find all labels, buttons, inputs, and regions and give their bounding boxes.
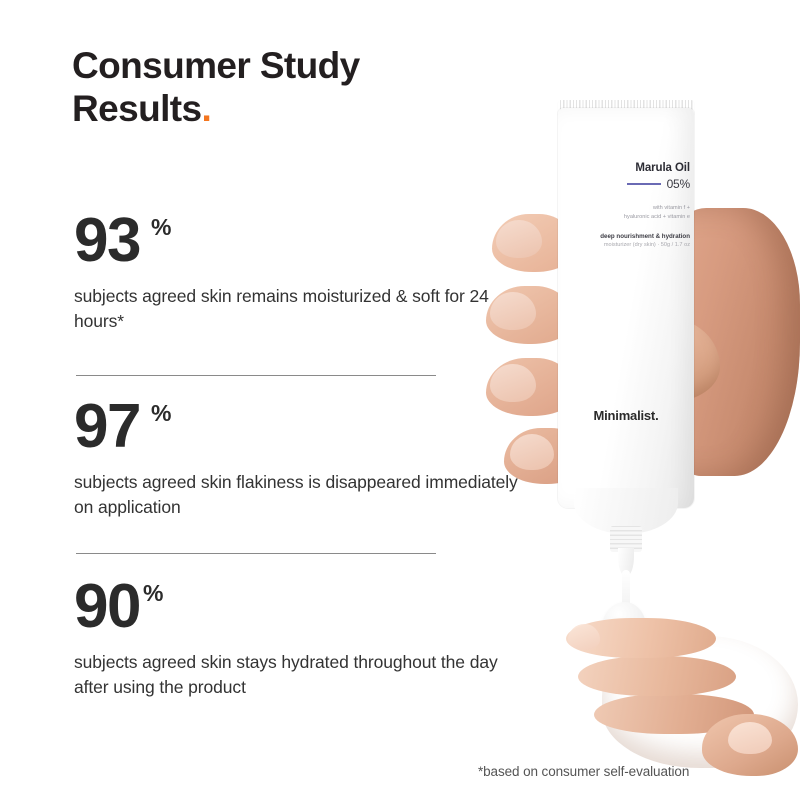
stat-percent-sign: % — [143, 582, 163, 605]
fingernail — [510, 434, 554, 470]
stat-divider — [76, 375, 436, 376]
title-line-2-text: Results — [72, 88, 201, 129]
infographic-canvas: Consumer Study Results. 93 % subjects ag… — [0, 0, 800, 800]
brand-name: Minimalist — [594, 408, 656, 423]
stat-value: 93 — [74, 212, 140, 271]
fingernail — [490, 292, 536, 330]
title-accent-dot: . — [201, 88, 211, 129]
stat-value-row: 97 % — [74, 398, 524, 457]
stat-percent-sign: % — [151, 216, 171, 239]
stat-percent-sign: % — [151, 402, 171, 425]
stat-description: subjects agreed skin stays hydrated thro… — [74, 650, 524, 700]
stat-value: 97 — [74, 398, 140, 457]
hand-receiving-cream — [506, 610, 800, 800]
accent-rule — [627, 183, 661, 185]
fingernail — [490, 364, 536, 402]
fingernail — [496, 220, 542, 258]
stat-value-row: 93 % — [74, 212, 524, 271]
brand-mark: Minimalist. — [562, 408, 690, 423]
product-meta: moisturizer (dry skin) · 50g / 1.7 oz — [562, 242, 690, 248]
product-ingredients: with vitamin f + hyaluronic acid + vitam… — [562, 204, 690, 222]
thumbnail — [728, 722, 772, 754]
finger — [578, 656, 736, 696]
product-photo: Marula Oil 05% with vitamin f + hyaluron… — [470, 90, 800, 770]
stat-description: subjects agreed skin remains moisturized… — [74, 284, 524, 334]
page-title: Consumer Study Results. — [72, 44, 492, 131]
product-label: Marula Oil 05% with vitamin f + hyaluron… — [562, 162, 698, 248]
stat-value: 90 — [74, 578, 140, 637]
stat-value-row: 90 % — [74, 578, 524, 637]
stat-item: 90 % subjects agreed skin stays hydrated… — [74, 578, 524, 700]
title-line-1: Consumer Study — [72, 45, 360, 86]
ingredients-line-1: with vitamin f + — [562, 204, 690, 213]
title-line-2: Results. — [72, 87, 492, 130]
fingernail — [568, 624, 600, 650]
brand-dot: . — [655, 408, 658, 423]
stat-description: subjects agreed skin flakiness is disapp… — [74, 470, 524, 520]
product-concentration-row: 05% — [562, 177, 690, 191]
ingredients-line-2: hyaluronic acid + vitamin e — [562, 213, 690, 222]
stat-item: 97 % subjects agreed skin flakiness is d… — [74, 398, 524, 520]
product-name: Marula Oil — [562, 162, 690, 174]
stat-divider — [76, 553, 436, 554]
product-concentration: 05% — [667, 177, 690, 191]
product-claim: deep nourishment & hydration — [562, 233, 690, 240]
stat-item: 93 % subjects agreed skin remains moistu… — [74, 212, 524, 334]
